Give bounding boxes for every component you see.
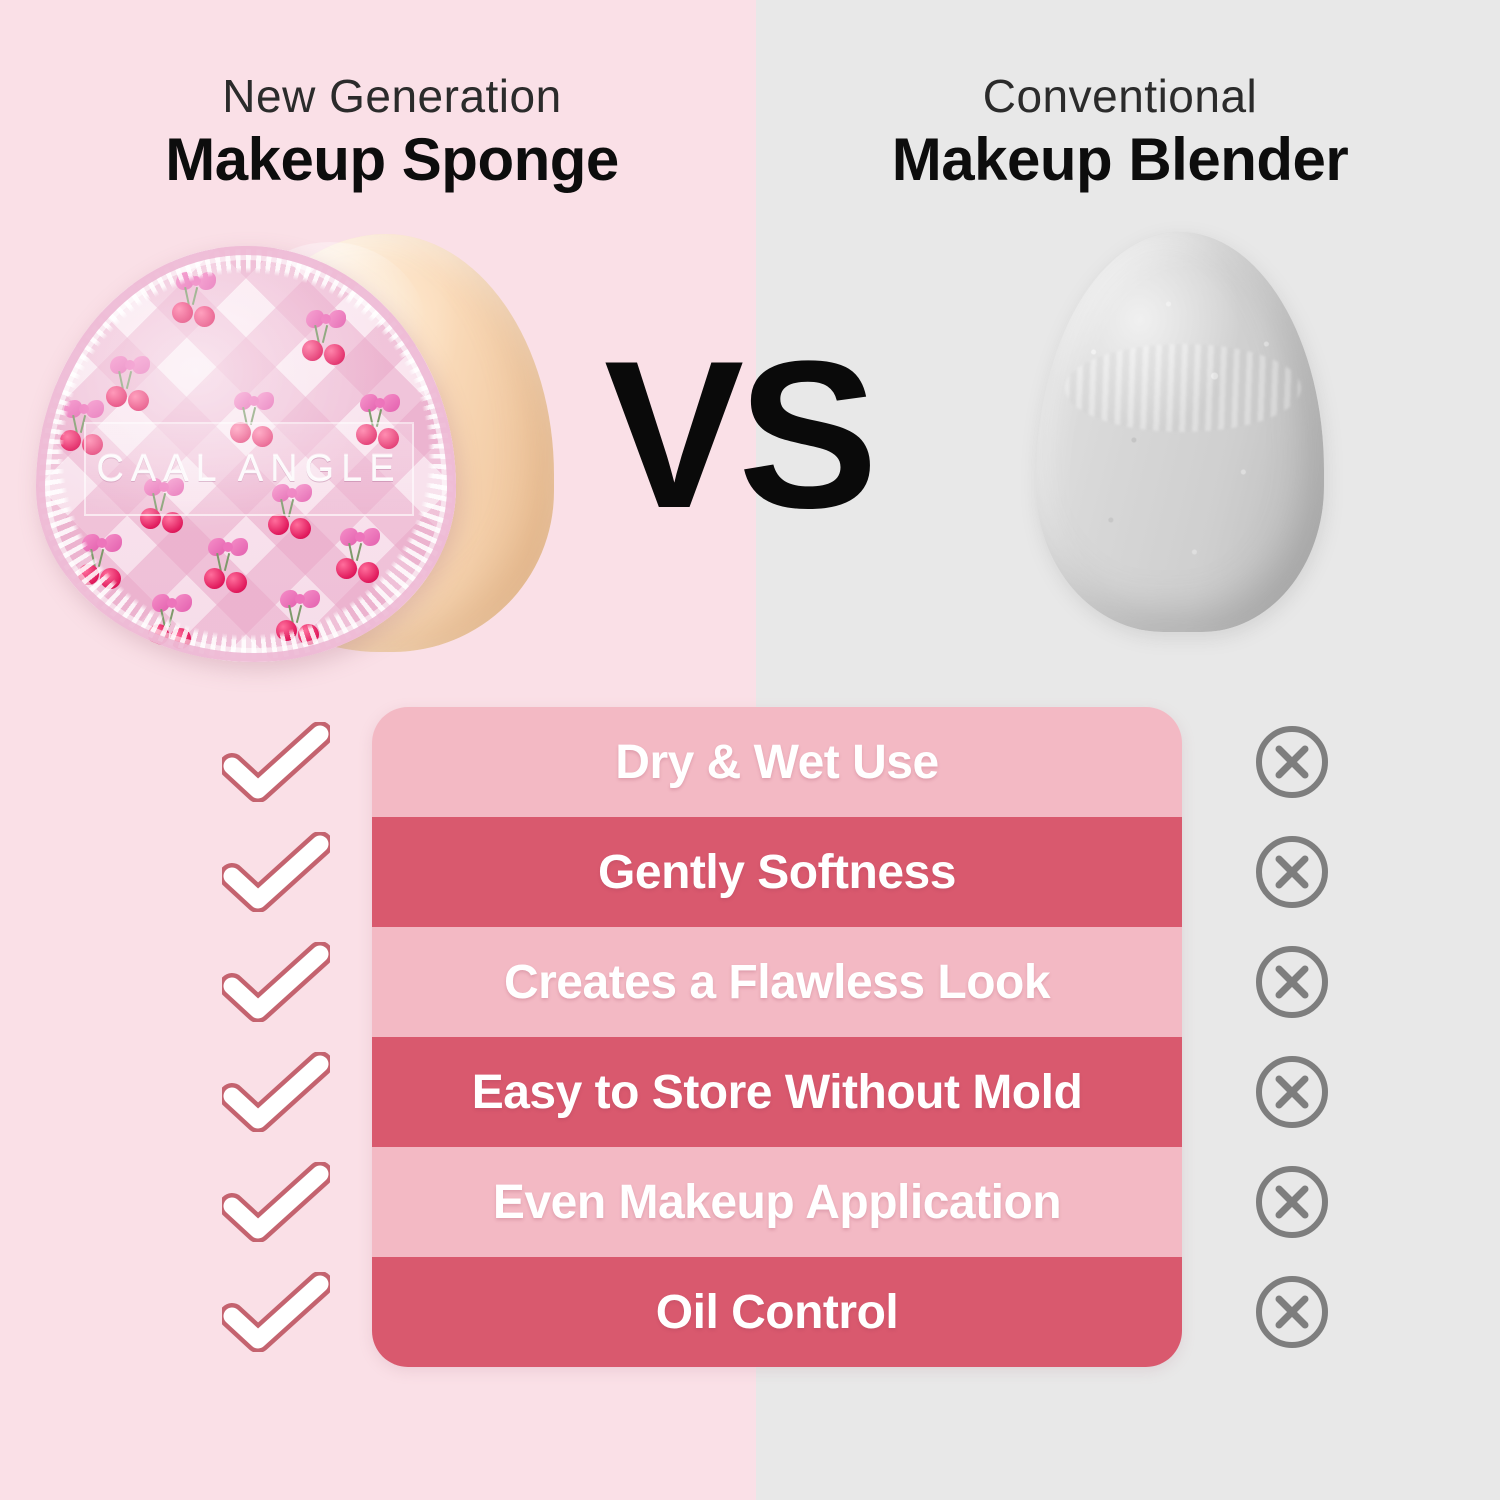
left-title-text: Makeup Sponge xyxy=(92,126,692,193)
sponge-check-cell xyxy=(196,1257,356,1367)
check-icon xyxy=(222,942,330,1022)
check-icon xyxy=(222,832,330,912)
right-title-text: Makeup Blender xyxy=(800,126,1440,193)
feature-label: Dry & Wet Use xyxy=(615,735,938,790)
circle-x-icon xyxy=(1253,1273,1331,1351)
check-icon xyxy=(222,1272,330,1352)
blender-result-column xyxy=(1222,707,1362,1367)
blender-cross-cell xyxy=(1222,1257,1362,1367)
blender-cross-cell xyxy=(1222,1147,1362,1257)
gray-blender-body xyxy=(1036,232,1324,632)
feature-row: Dry & Wet Use xyxy=(372,707,1182,817)
left-eyebrow-text: New Generation xyxy=(92,72,692,120)
check-icon xyxy=(222,1162,330,1242)
feature-label: Oil Control xyxy=(656,1285,898,1340)
circle-x-icon xyxy=(1253,723,1331,801)
left-column-header: New Generation Makeup Sponge xyxy=(92,72,692,193)
check-icon xyxy=(222,722,330,802)
feature-comparison-panel: Dry & Wet UseGently SoftnessCreates a Fl… xyxy=(372,707,1182,1367)
blender-cross-cell xyxy=(1222,1037,1362,1147)
feature-label: Gently Softness xyxy=(598,845,956,900)
feature-row: Easy to Store Without Mold xyxy=(372,1037,1182,1147)
circle-x-icon xyxy=(1253,1053,1331,1131)
check-icon xyxy=(222,1052,330,1132)
feature-label: Even Makeup Application xyxy=(493,1175,1061,1230)
circle-x-icon xyxy=(1253,1163,1331,1241)
feature-row: Creates a Flawless Look xyxy=(372,927,1182,1037)
right-eyebrow-text: Conventional xyxy=(800,72,1440,120)
circle-x-icon xyxy=(1253,833,1331,911)
sponge-check-cell xyxy=(196,817,356,927)
blender-cross-cell xyxy=(1222,817,1362,927)
blender-cross-cell xyxy=(1222,707,1362,817)
sponge-check-cell xyxy=(196,927,356,1037)
sponge-check-cell xyxy=(196,1147,356,1257)
blender-cross-cell xyxy=(1222,927,1362,1037)
infographic-stage: New Generation Makeup Sponge Conventiona… xyxy=(0,0,1500,1500)
feature-label: Easy to Store Without Mold xyxy=(472,1065,1083,1120)
feature-label: Creates a Flawless Look xyxy=(504,955,1050,1010)
makeup-blender-product-image xyxy=(1012,232,1332,652)
feature-row: Gently Softness xyxy=(372,817,1182,927)
feature-row: Oil Control xyxy=(372,1257,1182,1367)
vs-label: VS xyxy=(604,330,872,540)
sponge-check-cell xyxy=(196,1037,356,1147)
makeup-sponge-product-image: CAAL ANGLE xyxy=(28,228,588,678)
right-column-header: Conventional Makeup Blender xyxy=(800,72,1440,193)
circle-x-icon xyxy=(1253,943,1331,1021)
sponge-result-column xyxy=(196,707,356,1367)
gingham-puff-cover: CAAL ANGLE xyxy=(36,246,456,662)
sponge-check-cell xyxy=(196,707,356,817)
feature-row: Even Makeup Application xyxy=(372,1147,1182,1257)
